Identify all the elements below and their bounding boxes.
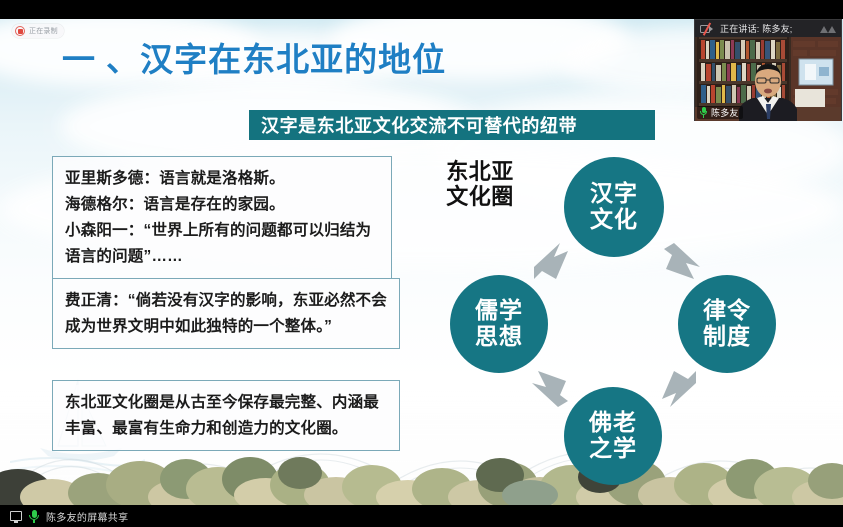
quote-line: 海德格尔：语言是存在的家园。: [65, 192, 379, 218]
diagram-node-label-line2: 制度: [703, 324, 751, 350]
quote-line: 亚里斯多德：语言就是洛格斯。: [65, 166, 379, 192]
active-speaker-label: 正在讲话: 陈多友;: [720, 22, 814, 35]
quote-box-culture-sphere: 东北亚文化圈是从古至今保存最完整、内涵最丰富、最富有生命力和创造力的文化圈。: [52, 380, 400, 451]
diagram-node-label-line1: 佛老: [589, 410, 637, 436]
zoom-top-bar: [0, 0, 843, 19]
monitor-icon: [10, 511, 22, 521]
recording-badge[interactable]: 正在录制: [12, 24, 64, 38]
zoom-status-bar: 陈多友的屏幕共享: [0, 505, 843, 527]
video-feed: 陈多友: [695, 37, 841, 121]
record-dot-icon: [15, 26, 25, 36]
quote-line: 小森阳一：“世界上所有的问题都可以归结为语言的问题”……: [65, 218, 379, 270]
recording-label: 正在录制: [29, 26, 58, 36]
quote-box-fairbank: 费正清：“倘若没有汉字的影响，东亚必然不会成为世界文明中如此独特的一个整体。”: [52, 278, 400, 349]
diagram-node-label-line1: 汉字: [590, 181, 638, 207]
microphone-icon: [699, 107, 708, 118]
participant-name-tag: 陈多友: [697, 106, 743, 119]
diagram-node-left[interactable]: 儒学 思想: [450, 275, 548, 373]
diagram-node-label-line1: 儒学: [475, 298, 523, 324]
quote-text: 费正清：“倘若没有汉字的影响，东亚必然不会成为世界文明中如此独特的一个整体。”: [65, 288, 387, 340]
diagram-node-bottom[interactable]: 佛老 之学: [564, 387, 662, 485]
diagram-node-label-line2: 文化: [590, 207, 638, 233]
participant-name: 陈多友: [711, 106, 739, 119]
diagram-node-right[interactable]: 律令 制度: [678, 275, 776, 373]
screen-share-label: 陈多友的屏幕共享: [46, 509, 128, 524]
speaker-video-panel[interactable]: 正在讲话: 陈多友;: [694, 19, 842, 121]
slide-banner: 汉字是东北亚文化交流不可替代的纽带: [249, 110, 655, 140]
zoom-meeting-window: 正在录制 一 、汉字在东北亚的地位 汉字是东北亚文化交流不可替代的纽带 亚里斯多…: [0, 0, 843, 527]
camera-off-icon[interactable]: [700, 23, 714, 34]
microphone-icon[interactable]: [28, 510, 40, 523]
diagram-node-label-line2: 思想: [475, 324, 523, 350]
page-title: 一 、汉字在东北亚的地位: [62, 33, 446, 81]
video-panel-header: 正在讲话: 陈多友;: [695, 20, 841, 37]
diagram-node-label-line2: 之学: [589, 436, 637, 462]
culture-sphere-diagram: 汉字 文化 律令 制度 佛老 之学 儒学 思想 东北亚 文化圈: [440, 147, 840, 487]
diagram-node-top[interactable]: 汉字 文化: [564, 157, 664, 257]
slide-banner-text: 汉字是东北亚文化交流不可替代的纽带: [261, 112, 577, 138]
collapse-chevron-icon[interactable]: [820, 24, 836, 33]
diagram-node-label-line1: 律令: [703, 298, 751, 324]
quote-box-philosophers: 亚里斯多德：语言就是洛格斯。 海德格尔：语言是存在的家园。 小森阳一：“世界上所…: [52, 156, 392, 279]
quote-text: 东北亚文化圈是从古至今保存最完整、内涵最丰富、最富有生命力和创造力的文化圈。: [65, 390, 387, 442]
